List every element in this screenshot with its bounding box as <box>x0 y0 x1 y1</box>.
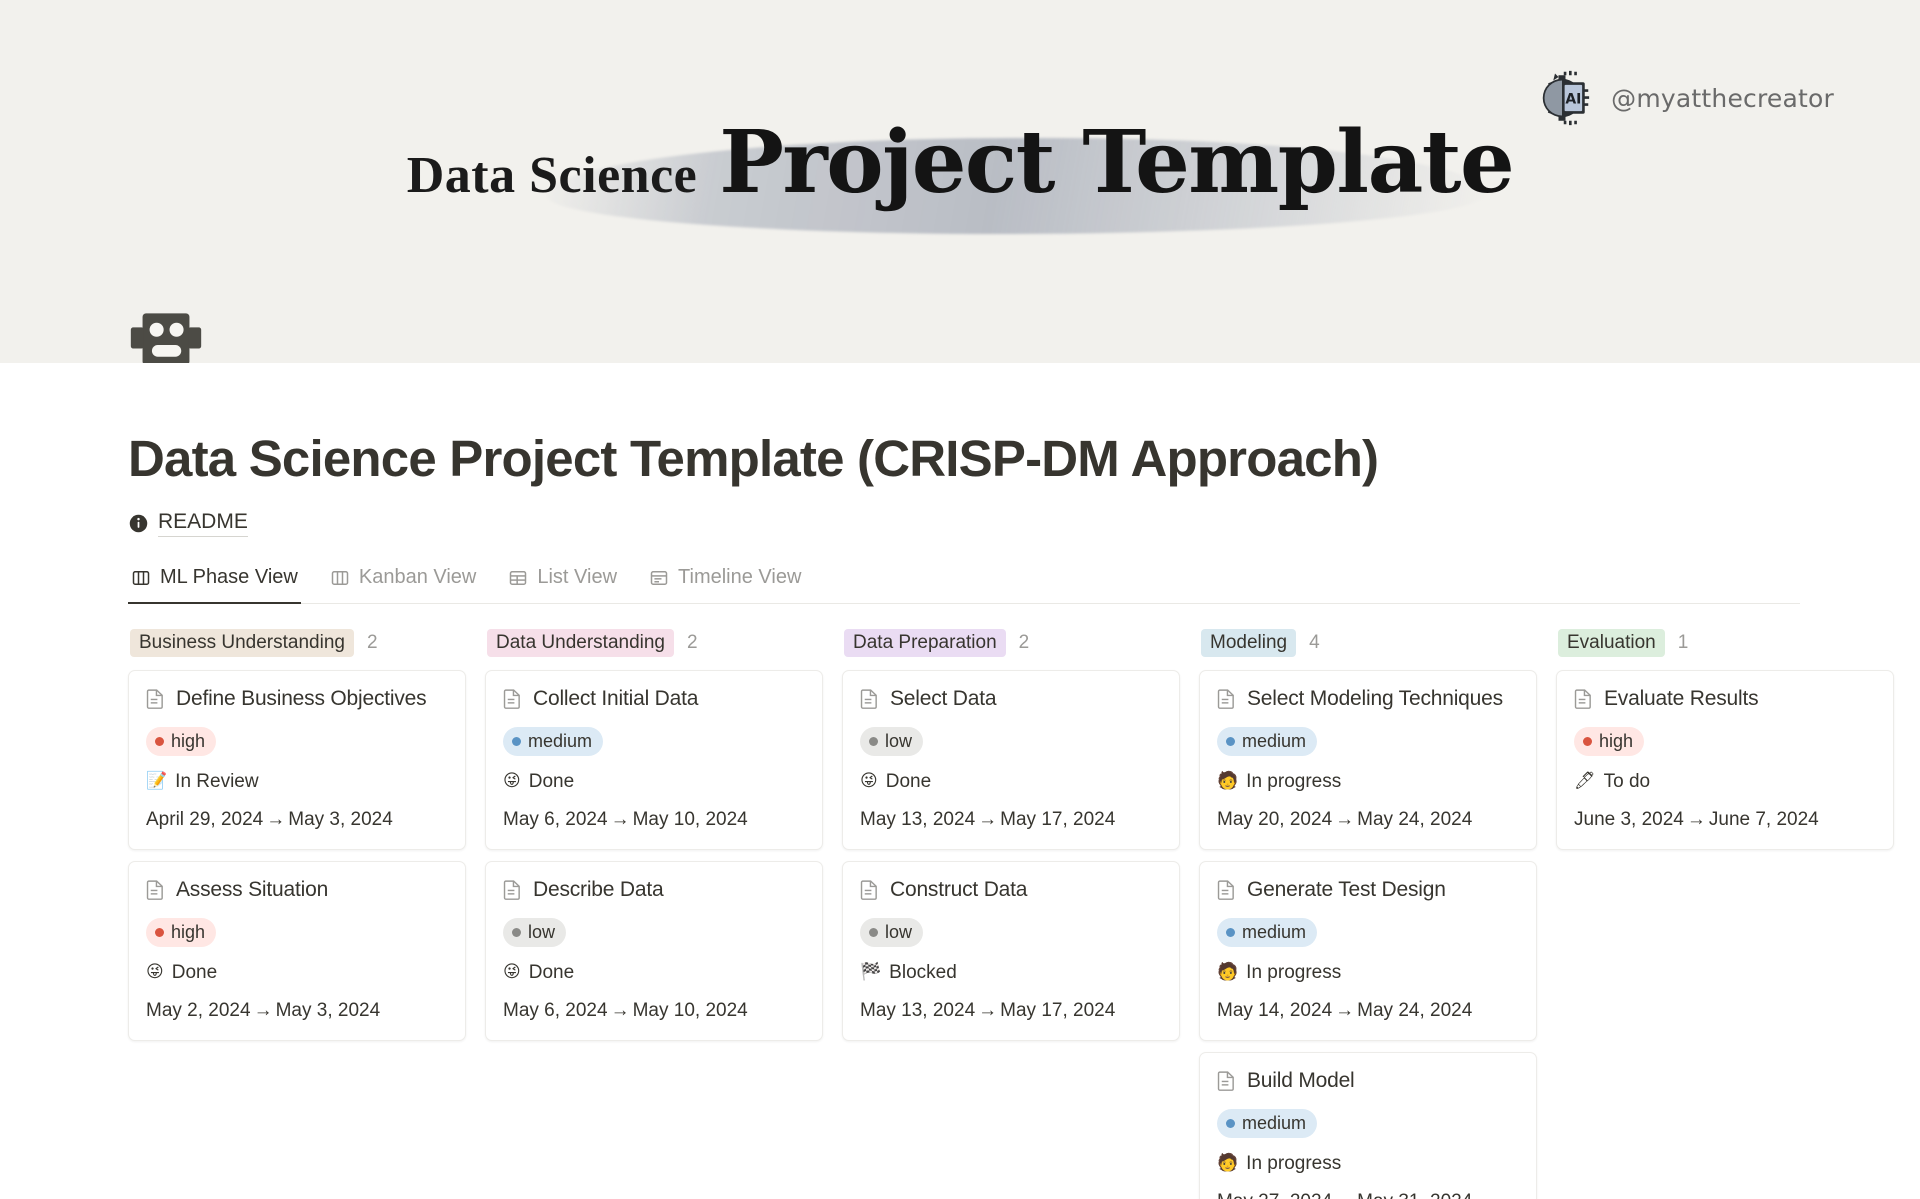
column-card-count: 1 <box>1678 632 1689 654</box>
tab-ml-phase-view[interactable]: ML Phase View <box>128 566 301 604</box>
tab-label: Kanban View <box>359 566 477 589</box>
document-icon <box>1217 688 1236 709</box>
priority-label: low <box>885 731 912 752</box>
page-body: Data Science Project Template (CRISP-DM … <box>0 429 1920 1189</box>
svg-text:AI: AI <box>1565 91 1581 107</box>
status-emoji-icon: 🏁 <box>860 964 881 981</box>
date-start: May 14, 2024 <box>1217 1000 1332 1021</box>
task-card[interactable]: Collect Initial Datamedium😜DoneMay 6, 20… <box>485 670 823 850</box>
date-start: May 20, 2024 <box>1217 809 1332 830</box>
readme-label: README <box>158 510 248 537</box>
status-emoji-icon: 🧑 <box>1217 773 1238 790</box>
task-card[interactable]: Build Modelmedium🧑In progressMay 27, 202… <box>1199 1052 1537 1199</box>
document-icon <box>1574 688 1593 709</box>
priority-label: low <box>885 922 912 943</box>
date-start: May 27, 2024 <box>1217 1191 1332 1199</box>
tab-label: Timeline View <box>678 566 801 589</box>
priority-badge: high <box>146 918 216 947</box>
column-card-list: Define Business Objectiveshigh📝In Review… <box>128 670 466 1041</box>
kanban-board: Business Understanding2Define Business O… <box>128 629 1920 1189</box>
status-emoji-icon: 🧑 <box>1217 964 1238 981</box>
status-label: In progress <box>1246 771 1341 793</box>
readme-link[interactable]: README <box>128 510 248 537</box>
cover-title-part2: Project Template <box>719 112 1513 213</box>
card-title: Construct Data <box>890 878 1027 902</box>
priority-label: low <box>528 922 555 943</box>
status-label: In Review <box>175 771 258 793</box>
arrow-icon: → <box>1684 809 1709 830</box>
status-label: To do <box>1604 771 1650 793</box>
priority-dot-icon <box>155 928 164 937</box>
document-icon <box>503 688 522 709</box>
arrow-icon: → <box>1332 1191 1357 1199</box>
date-range: May 6, 2024→May 10, 2024 <box>503 1000 805 1022</box>
column-card-count: 2 <box>1019 632 1030 654</box>
cover-title: Data Science Project Template <box>0 112 1920 213</box>
status-emoji-icon: 😜 <box>503 964 521 981</box>
status-label: Done <box>529 962 574 984</box>
priority-dot-icon <box>869 928 878 937</box>
priority-label: high <box>1599 731 1633 752</box>
status-emoji-icon: 📝 <box>146 773 167 790</box>
status-row: 🧑In progress <box>1217 771 1519 793</box>
date-range: May 13, 2024→May 17, 2024 <box>860 1000 1162 1022</box>
task-card[interactable]: Assess Situationhigh😜DoneMay 2, 2024→May… <box>128 861 466 1041</box>
column-card-list: Evaluate Resultshigh🖊To doJune 3, 2024→J… <box>1556 670 1894 850</box>
arrow-icon: → <box>975 809 1000 830</box>
card-title: Evaluate Results <box>1604 687 1758 711</box>
status-emoji-icon: 😜 <box>146 964 164 981</box>
status-row: 🏁Blocked <box>860 962 1162 984</box>
priority-badge: high <box>1574 727 1644 756</box>
date-range: May 14, 2024→May 24, 2024 <box>1217 1000 1519 1022</box>
date-range: May 13, 2024→May 17, 2024 <box>860 809 1162 831</box>
status-row: 😜Done <box>860 771 1162 793</box>
priority-dot-icon <box>869 737 878 746</box>
status-label: In progress <box>1246 962 1341 984</box>
document-icon <box>503 879 522 900</box>
status-row: 😜Done <box>503 771 805 793</box>
date-range: May 27, 2024→May 31, 2024 <box>1217 1191 1519 1199</box>
date-end: May 24, 2024 <box>1357 809 1472 830</box>
board-column: Business Understanding2Define Business O… <box>128 629 466 1189</box>
card-title-row: Select Data <box>860 687 1162 711</box>
priority-dot-icon <box>512 737 521 746</box>
date-end: May 17, 2024 <box>1000 809 1115 830</box>
status-emoji-icon: 😜 <box>503 773 521 790</box>
column-card-list: Collect Initial Datamedium😜DoneMay 6, 20… <box>485 670 823 1041</box>
cover-title-part1: Data Science <box>407 146 697 205</box>
priority-label: medium <box>1242 731 1306 752</box>
column-card-list: Select Datalow😜DoneMay 13, 2024→May 17, … <box>842 670 1180 1041</box>
board-column: Modeling4Select Modeling Techniquesmediu… <box>1199 629 1537 1189</box>
card-title-row: Evaluate Results <box>1574 687 1876 711</box>
column-name-chip: Evaluation <box>1558 629 1665 657</box>
tab-kanban-view[interactable]: Kanban View <box>327 566 480 604</box>
card-title-row: Generate Test Design <box>1217 878 1519 902</box>
document-icon <box>146 688 165 709</box>
date-start: May 13, 2024 <box>860 1000 975 1021</box>
date-start: May 2, 2024 <box>146 1000 251 1021</box>
date-start: April 29, 2024 <box>146 809 263 830</box>
column-header: Data Understanding2 <box>485 629 823 670</box>
column-card-count: 2 <box>687 632 698 654</box>
date-end: May 3, 2024 <box>288 809 393 830</box>
card-title: Generate Test Design <box>1247 878 1446 902</box>
arrow-icon: → <box>263 809 288 830</box>
table-icon <box>508 568 528 588</box>
status-label: Done <box>529 771 574 793</box>
date-end: May 3, 2024 <box>276 1000 381 1021</box>
task-card[interactable]: Select Datalow😜DoneMay 13, 2024→May 17, … <box>842 670 1180 850</box>
arrow-icon: → <box>1332 809 1357 830</box>
priority-label: medium <box>1242 1113 1306 1134</box>
column-card-list: Select Modeling Techniquesmedium🧑In prog… <box>1199 670 1537 1199</box>
date-range: June 3, 2024→June 7, 2024 <box>1574 809 1876 831</box>
priority-badge: low <box>503 918 566 947</box>
card-title: Collect Initial Data <box>533 687 698 711</box>
view-tabs: ML Phase ViewKanban ViewList ViewTimelin… <box>128 566 1800 604</box>
priority-label: medium <box>1242 922 1306 943</box>
status-row: 😜Done <box>503 962 805 984</box>
timeline-icon <box>649 568 669 588</box>
status-emoji-icon: 😜 <box>860 773 878 790</box>
card-title: Define Business Objectives <box>176 687 426 711</box>
board-columns-icon <box>330 568 350 588</box>
priority-badge: low <box>860 918 923 947</box>
column-card-count: 4 <box>1309 632 1320 654</box>
tab-label: List View <box>537 566 617 589</box>
date-range: May 2, 2024→May 3, 2024 <box>146 1000 448 1022</box>
credit-handle: @myatthecreator <box>1611 84 1834 113</box>
priority-badge: low <box>860 727 923 756</box>
priority-badge: medium <box>1217 1109 1317 1138</box>
column-name-chip: Data Preparation <box>844 629 1006 657</box>
date-end: May 17, 2024 <box>1000 1000 1115 1021</box>
card-title-row: Construct Data <box>860 878 1162 902</box>
document-icon <box>146 879 165 900</box>
status-row: 🧑In progress <box>1217 962 1519 984</box>
card-title-row: Define Business Objectives <box>146 687 448 711</box>
column-name-chip: Data Understanding <box>487 629 674 657</box>
document-icon <box>1217 879 1236 900</box>
column-header: Modeling4 <box>1199 629 1537 670</box>
card-title: Assess Situation <box>176 878 328 902</box>
column-header: Evaluation1 <box>1556 629 1894 670</box>
task-card[interactable]: Define Business Objectiveshigh📝In Review… <box>128 670 466 850</box>
card-title-row: Collect Initial Data <box>503 687 805 711</box>
priority-dot-icon <box>155 737 164 746</box>
date-end: May 24, 2024 <box>1357 1000 1472 1021</box>
priority-badge: medium <box>1217 727 1317 756</box>
priority-badge: high <box>146 727 216 756</box>
card-title-row: Describe Data <box>503 878 805 902</box>
column-header: Data Preparation2 <box>842 629 1180 670</box>
card-title-row: Build Model <box>1217 1069 1519 1093</box>
document-icon <box>860 688 879 709</box>
arrow-icon: → <box>1332 1000 1357 1021</box>
date-range: May 20, 2024→May 24, 2024 <box>1217 809 1519 831</box>
status-emoji-icon: 🖊 <box>1574 773 1596 790</box>
task-card[interactable]: Construct Datalow🏁BlockedMay 13, 2024→Ma… <box>842 861 1180 1041</box>
status-row: 😜Done <box>146 962 448 984</box>
date-end: May 10, 2024 <box>633 1000 748 1021</box>
priority-label: high <box>171 731 205 752</box>
date-end: May 10, 2024 <box>633 809 748 830</box>
card-title-row: Assess Situation <box>146 878 448 902</box>
date-start: May 6, 2024 <box>503 809 608 830</box>
date-start: May 6, 2024 <box>503 1000 608 1021</box>
column-name-chip: Business Understanding <box>130 629 354 657</box>
cover-banner: AI @myatthecreator Data Science Project … <box>0 0 1920 363</box>
robot-icon[interactable] <box>128 311 204 363</box>
column-name-chip: Modeling <box>1201 629 1296 657</box>
board-column: Evaluation1Evaluate Resultshigh🖊To doJun… <box>1556 629 1894 1189</box>
card-title: Select Modeling Techniques <box>1247 687 1503 711</box>
task-card[interactable]: Generate Test Designmedium🧑In progressMa… <box>1199 861 1537 1041</box>
card-title: Select Data <box>890 687 996 711</box>
card-title-row: Select Modeling Techniques <box>1217 687 1519 711</box>
date-range: April 29, 2024→May 3, 2024 <box>146 809 448 831</box>
priority-dot-icon <box>512 928 521 937</box>
status-row: 🖊To do <box>1574 771 1876 793</box>
status-label: Blocked <box>889 962 957 984</box>
date-range: May 6, 2024→May 10, 2024 <box>503 809 805 831</box>
date-start: May 13, 2024 <box>860 809 975 830</box>
tab-timeline-view[interactable]: Timeline View <box>646 566 804 604</box>
priority-dot-icon <box>1583 737 1592 746</box>
status-label: Done <box>172 962 217 984</box>
date-end: May 31, 2024 <box>1357 1191 1472 1199</box>
tab-list-view[interactable]: List View <box>505 566 620 604</box>
board-column: Data Understanding2Collect Initial Datam… <box>485 629 823 1189</box>
page-title: Data Science Project Template (CRISP-DM … <box>128 429 1920 488</box>
priority-dot-icon <box>1226 737 1235 746</box>
priority-dot-icon <box>1226 1119 1235 1128</box>
priority-dot-icon <box>1226 928 1235 937</box>
card-title: Describe Data <box>533 878 663 902</box>
status-emoji-icon: 🧑 <box>1217 1155 1238 1172</box>
board-column: Data Preparation2Select Datalow😜DoneMay … <box>842 629 1180 1189</box>
document-icon <box>1217 1070 1236 1091</box>
board-columns-icon <box>131 568 151 588</box>
priority-badge: medium <box>503 727 603 756</box>
arrow-icon: → <box>608 1000 633 1021</box>
status-label: Done <box>886 771 931 793</box>
arrow-icon: → <box>251 1000 276 1021</box>
task-card[interactable]: Evaluate Resultshigh🖊To doJune 3, 2024→J… <box>1556 670 1894 850</box>
task-card[interactable]: Describe Datalow😜DoneMay 6, 2024→May 10,… <box>485 861 823 1041</box>
card-title: Build Model <box>1247 1069 1355 1093</box>
status-row: 📝In Review <box>146 771 448 793</box>
arrow-icon: → <box>975 1000 1000 1021</box>
status-row: 🧑In progress <box>1217 1153 1519 1175</box>
priority-badge: medium <box>1217 918 1317 947</box>
priority-label: high <box>171 922 205 943</box>
status-label: In progress <box>1246 1153 1341 1175</box>
column-header: Business Understanding2 <box>128 629 466 670</box>
tab-label: ML Phase View <box>160 566 298 589</box>
date-end: June 7, 2024 <box>1709 809 1819 830</box>
priority-label: medium <box>528 731 592 752</box>
column-card-count: 2 <box>367 632 378 654</box>
document-icon <box>860 879 879 900</box>
task-card[interactable]: Select Modeling Techniquesmedium🧑In prog… <box>1199 670 1537 850</box>
info-icon <box>128 513 149 534</box>
arrow-icon: → <box>608 809 633 830</box>
date-start: June 3, 2024 <box>1574 809 1684 830</box>
